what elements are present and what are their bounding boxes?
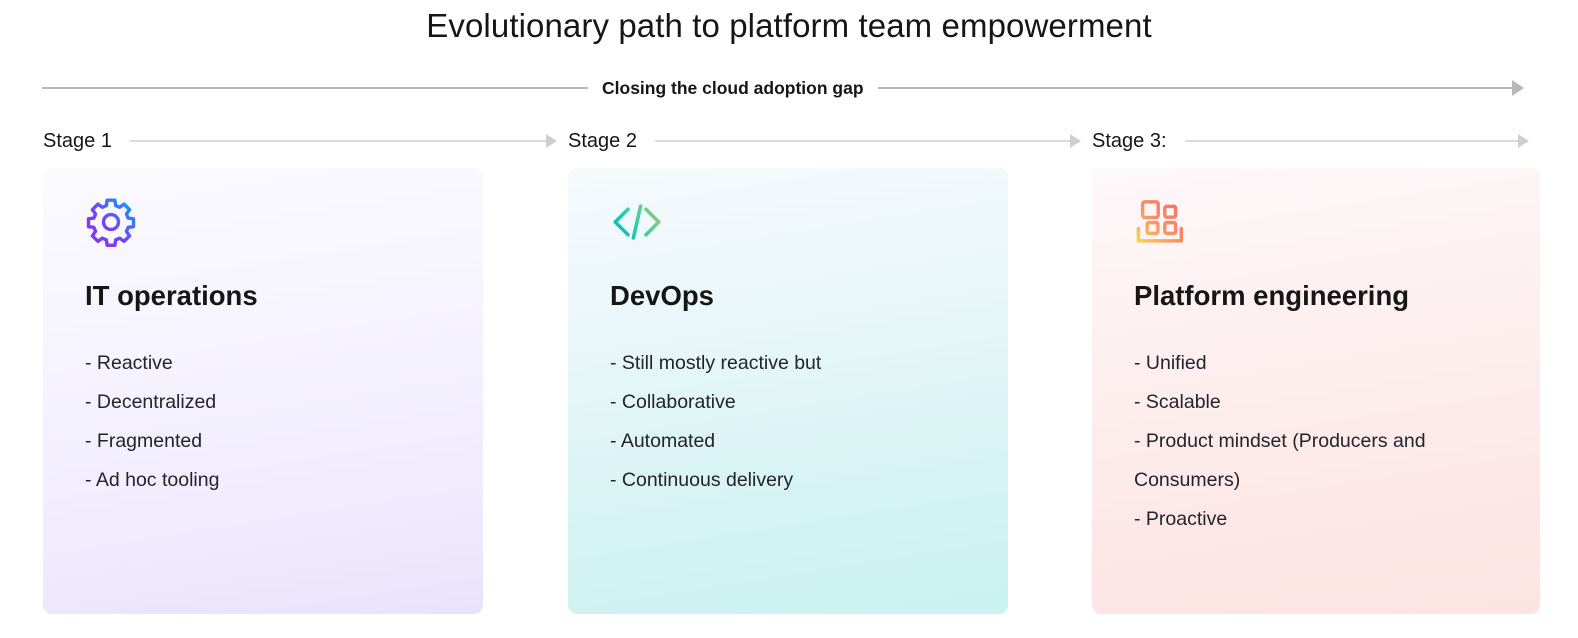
list-item: - Ad hoc tooling [85, 461, 455, 500]
list-item: - Product mindset (Producers and Consume… [1134, 422, 1496, 500]
card-bullets-platform-engineering: - Unified - Scalable - Product mindset (… [1134, 344, 1496, 539]
list-item: - Decentralized [85, 383, 455, 422]
banner-label: Closing the cloud adoption gap [588, 78, 878, 98]
stage-label-3: Stage 3: [1092, 127, 1167, 155]
stage-label-1: Stage 1 [43, 127, 112, 155]
list-item: - Automated [610, 422, 980, 461]
arrow-right-icon [1070, 134, 1092, 148]
stage-line-2 [655, 140, 1070, 142]
card-title-devops: DevOps [610, 278, 714, 314]
platform-blocks-icon [1134, 195, 1188, 249]
list-item: - Still mostly reactive but [610, 344, 980, 383]
card-bullets-it-operations: - Reactive - Decentralized - Fragmented … [85, 344, 455, 500]
card-title-it-operations: IT operations [85, 278, 258, 314]
banner-line-right [878, 87, 1512, 89]
list-item: - Fragmented [85, 422, 455, 461]
stage-line-1 [130, 140, 546, 142]
stage-line-3 [1185, 140, 1518, 142]
stage-header-1: Stage 1 [43, 126, 568, 156]
arrow-right-icon [546, 134, 568, 148]
stage-label-2: Stage 2 [568, 127, 637, 155]
banner-line-left [42, 87, 588, 89]
stage-header-3: Stage 3: [1092, 126, 1540, 156]
card-platform-engineering: Platform engineering - Unified - Scalabl… [1092, 168, 1540, 614]
arrow-right-icon [1512, 80, 1536, 96]
page-title: Evolutionary path to platform team empow… [0, 4, 1578, 48]
gear-icon [85, 195, 139, 249]
code-brackets-icon [610, 195, 664, 249]
arrow-right-icon [1518, 134, 1540, 148]
list-item: - Continuous delivery [610, 461, 980, 500]
list-item: - Collaborative [610, 383, 980, 422]
closing-gap-banner: Closing the cloud adoption gap [42, 75, 1536, 101]
stage-header-row: Stage 1 Stage 2 Stage 3: [43, 126, 1540, 156]
list-item: - Proactive [1134, 500, 1496, 539]
card-title-platform-engineering: Platform engineering [1134, 278, 1409, 314]
list-item: - Scalable [1134, 383, 1496, 422]
stage-cards: IT operations - Reactive - Decentralized… [43, 168, 1540, 614]
list-item: - Unified [1134, 344, 1496, 383]
list-item: - Reactive [85, 344, 455, 383]
card-it-operations: IT operations - Reactive - Decentralized… [43, 168, 483, 614]
card-devops: DevOps - Still mostly reactive but - Col… [568, 168, 1008, 614]
card-bullets-devops: - Still mostly reactive but - Collaborat… [610, 344, 980, 500]
stage-header-2: Stage 2 [568, 126, 1092, 156]
